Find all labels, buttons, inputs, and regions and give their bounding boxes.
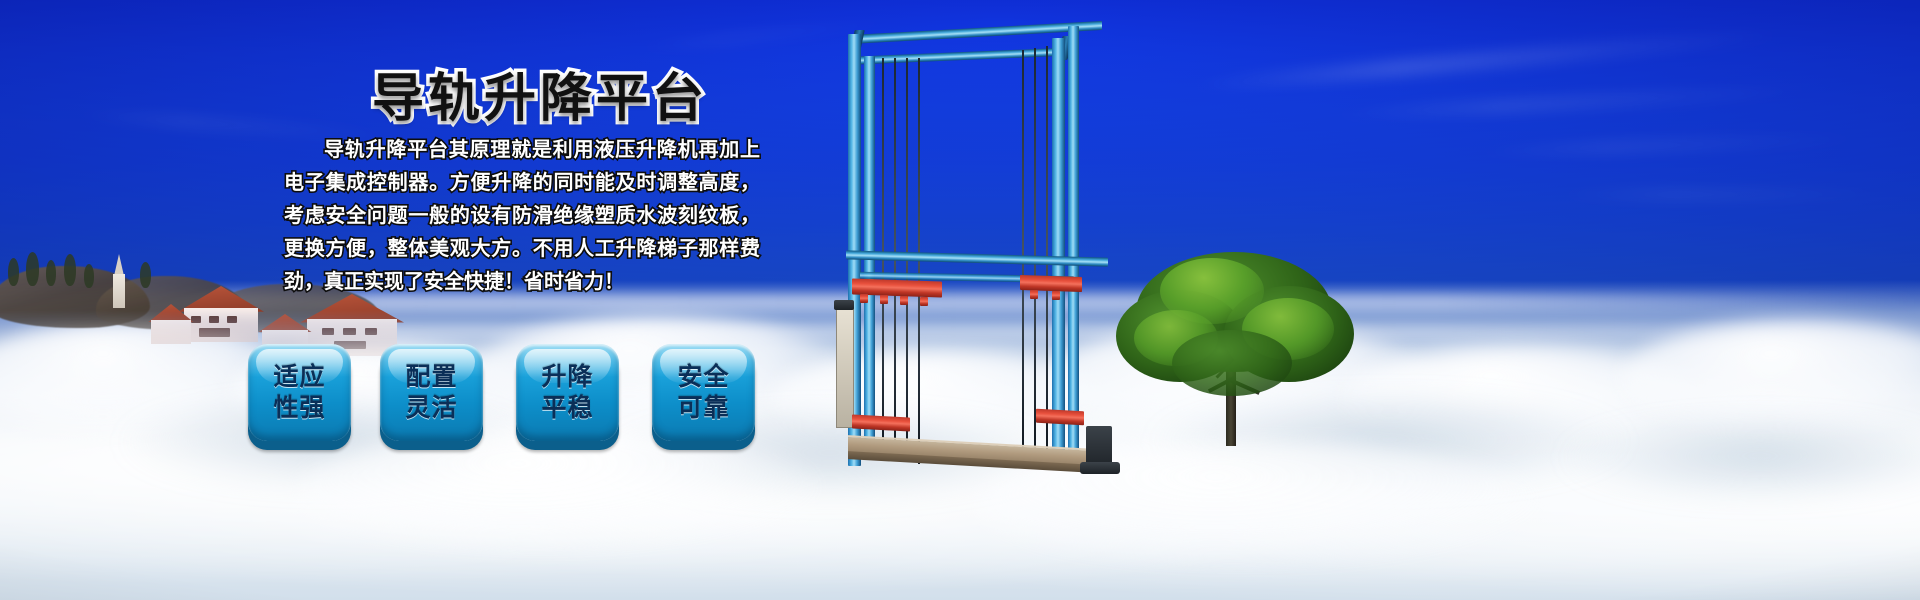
feature-label-line1: 适应	[273, 362, 325, 393]
feature-label-line1: 配置	[405, 362, 457, 393]
feature-label-line2: 性强	[273, 393, 325, 424]
village-house	[148, 304, 194, 344]
red-lower-bar	[852, 414, 910, 431]
feature-button-configuration[interactable]: 配置 灵活	[380, 344, 483, 441]
feature-button-smooth-lifting[interactable]: 升降 平稳	[516, 344, 619, 441]
page-title: 导轨升降平台	[372, 56, 708, 131]
red-lower-bar	[1036, 409, 1084, 426]
feature-label-line1: 安全	[677, 362, 729, 393]
product-banner: 导轨升降平台 导轨升降平台其原理就是利用液压升降机再加上电子集成控制器。方便升降…	[0, 0, 1920, 600]
product-description: 导轨升降平台其原理就是利用液压升降机再加上电子集成控制器。方便升降的同时能及时调…	[284, 134, 760, 299]
feature-label-line2: 灵活	[405, 393, 457, 424]
feature-button-row: 适应 性强 配置 灵活 升降 平稳 安全 可靠	[248, 344, 778, 448]
feature-label-line2: 平稳	[541, 393, 593, 424]
feature-button-safety[interactable]: 安全 可靠	[652, 344, 755, 441]
control-box	[836, 306, 854, 428]
church-steeple	[112, 254, 126, 310]
green-tree	[1108, 246, 1358, 446]
rail-guided-lift-platform	[824, 18, 1124, 488]
feature-label-line2: 可靠	[677, 393, 729, 424]
feature-label-line1: 升降	[541, 362, 593, 393]
feature-button-adaptability[interactable]: 适应 性强	[248, 344, 351, 441]
